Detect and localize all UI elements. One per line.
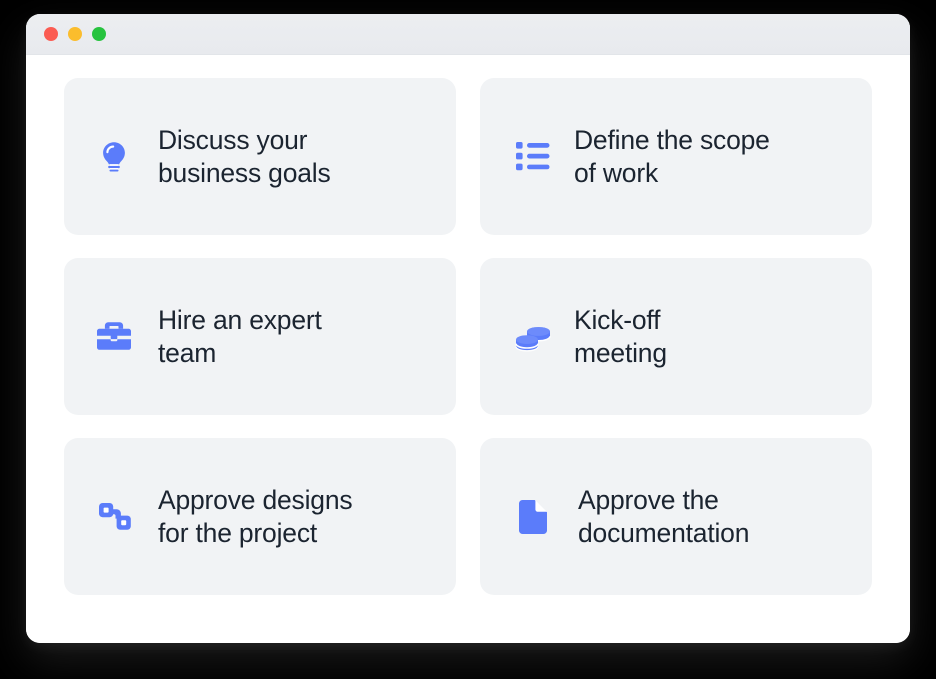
minimize-traffic-light-icon[interactable]: [68, 27, 82, 41]
maximize-traffic-light-icon[interactable]: [92, 27, 106, 41]
coins-stack-icon: [513, 317, 553, 357]
bullet-list-icon: [513, 137, 553, 177]
card-label: Hire an expert team: [158, 304, 322, 370]
browser-window: Discuss your business goals: [26, 14, 910, 643]
briefcase-icon: [94, 317, 134, 357]
card-label: Discuss your business goals: [158, 124, 331, 190]
card-kick-off-meeting[interactable]: Kick-off meeting: [480, 258, 872, 415]
card-define-scope-of-work[interactable]: Define the scope of work: [480, 78, 872, 235]
close-traffic-light-icon[interactable]: [44, 27, 58, 41]
lightbulb-icon: [94, 137, 134, 177]
card-label: Approve designs for the project: [158, 484, 352, 550]
card-grid: Discuss your business goals: [64, 78, 886, 595]
window-content: Discuss your business goals: [26, 55, 910, 643]
connected-squares-icon: [96, 497, 136, 537]
document-icon: [513, 497, 553, 537]
window-titlebar: [26, 14, 910, 55]
page-background: Discuss your business goals: [0, 0, 936, 679]
card-label: Approve the documentation: [578, 484, 749, 550]
window-controls: [44, 27, 106, 41]
card-approve-designs[interactable]: Approve designs for the project: [64, 438, 456, 595]
card-approve-documentation[interactable]: Approve the documentation: [480, 438, 872, 595]
card-label: Define the scope of work: [574, 124, 770, 190]
card-hire-expert-team[interactable]: Hire an expert team: [64, 258, 456, 415]
card-discuss-business-goals[interactable]: Discuss your business goals: [64, 78, 456, 235]
card-label: Kick-off meeting: [574, 304, 667, 370]
